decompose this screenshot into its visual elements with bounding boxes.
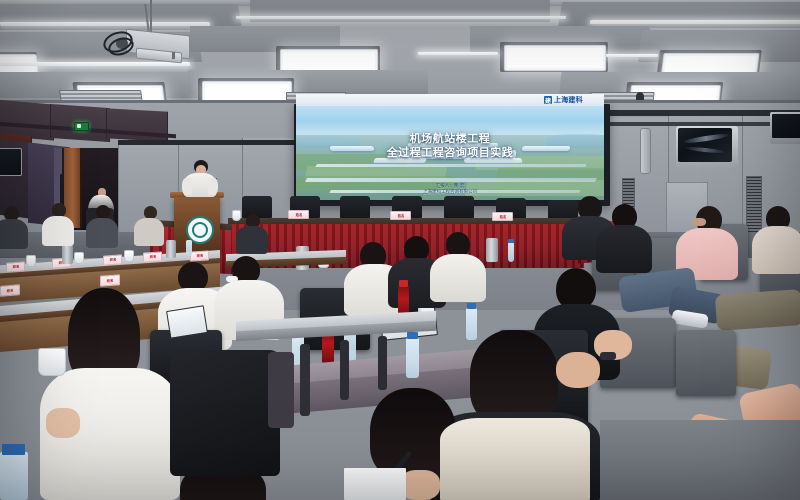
water-bottle — [406, 338, 419, 378]
wall-speaker — [640, 128, 651, 174]
thermos-flask — [62, 244, 73, 264]
tea-cup — [232, 210, 241, 221]
floor — [600, 420, 800, 500]
projector-bracket — [172, 52, 175, 59]
name-card: 姓名 — [6, 261, 25, 272]
slide-title-line2: 全过程工程咨询项目实践 — [296, 146, 604, 160]
name-card: 姓名 — [288, 210, 309, 219]
led-strip — [0, 62, 190, 66]
led-strip — [236, 16, 566, 19]
wall-tv-monitor-secondary[interactable] — [770, 112, 800, 144]
name-card: 姓名 — [190, 251, 209, 262]
conference-room-photo: 机场航站楼工程 全过程工程咨询项目实践 汇报人：瞿 宏 上海建科工程咨询有限公司… — [0, 0, 800, 500]
ceiling-panel-light — [504, 45, 606, 71]
audience-chair[interactable] — [676, 330, 736, 396]
tea-cup — [124, 250, 134, 262]
led-strip — [590, 20, 800, 24]
coat-on-chair — [170, 350, 280, 476]
brand-logo-mark: 建 — [544, 96, 552, 104]
water-bottle — [0, 452, 28, 500]
chair-leg — [378, 336, 387, 390]
door-leaf[interactable] — [64, 148, 82, 228]
wall-tv-monitor-left[interactable] — [0, 148, 22, 176]
slide-title-line1: 机场航站楼工程 — [296, 132, 604, 146]
notepad — [344, 468, 406, 500]
projection-screen: 机场航站楼工程 全过程工程咨询项目实践 汇报人：瞿 宏 上海建科工程咨询有限公司… — [294, 104, 610, 206]
paper-cup — [38, 348, 66, 376]
ceiling — [0, 0, 800, 108]
led-strip — [0, 22, 210, 26]
tablet-device[interactable] — [166, 305, 208, 339]
slide-subtitle-line2: 上海建科工程咨询有限公司 — [296, 190, 604, 196]
thermos-flask — [486, 238, 498, 262]
head-table-chair[interactable] — [444, 196, 474, 218]
name-card: 姓名 — [103, 254, 122, 265]
tea-cup — [26, 255, 36, 267]
wall-air-grille — [746, 176, 762, 234]
hand — [556, 352, 600, 388]
face-mask — [226, 276, 238, 282]
wristwatch — [600, 352, 616, 360]
name-card: 姓名 — [143, 252, 162, 263]
chair-leg — [340, 340, 349, 400]
brand-logo: 建 上海建科 — [544, 95, 583, 105]
person-legs-khaki — [715, 289, 800, 331]
water-bottle — [508, 242, 514, 262]
presentation-slide: 机场航站楼工程 全过程工程咨询项目实践 汇报人：瞿 宏 上海建科工程咨询有限公司 — [296, 106, 604, 200]
door-handle[interactable] — [60, 174, 63, 204]
projector-mount-pole — [150, 0, 152, 34]
thermos-flask — [166, 240, 176, 258]
wall-tv-monitor[interactable] — [676, 126, 738, 168]
exit-sign — [74, 122, 89, 131]
water-bottle — [186, 240, 192, 256]
name-card: 姓名 — [390, 211, 411, 220]
name-card: 姓名 — [100, 274, 120, 286]
hand — [46, 408, 80, 438]
brand-logo-text: 上海建科 — [554, 95, 583, 105]
head-table-chair[interactable] — [340, 196, 370, 218]
tea-cup — [74, 252, 84, 264]
water-bottle — [466, 308, 477, 340]
hand — [400, 470, 440, 500]
chair-leg — [300, 344, 310, 416]
name-card: 姓名 — [492, 212, 513, 221]
chair-leg — [268, 352, 294, 428]
name-card: 姓名 — [0, 284, 20, 297]
